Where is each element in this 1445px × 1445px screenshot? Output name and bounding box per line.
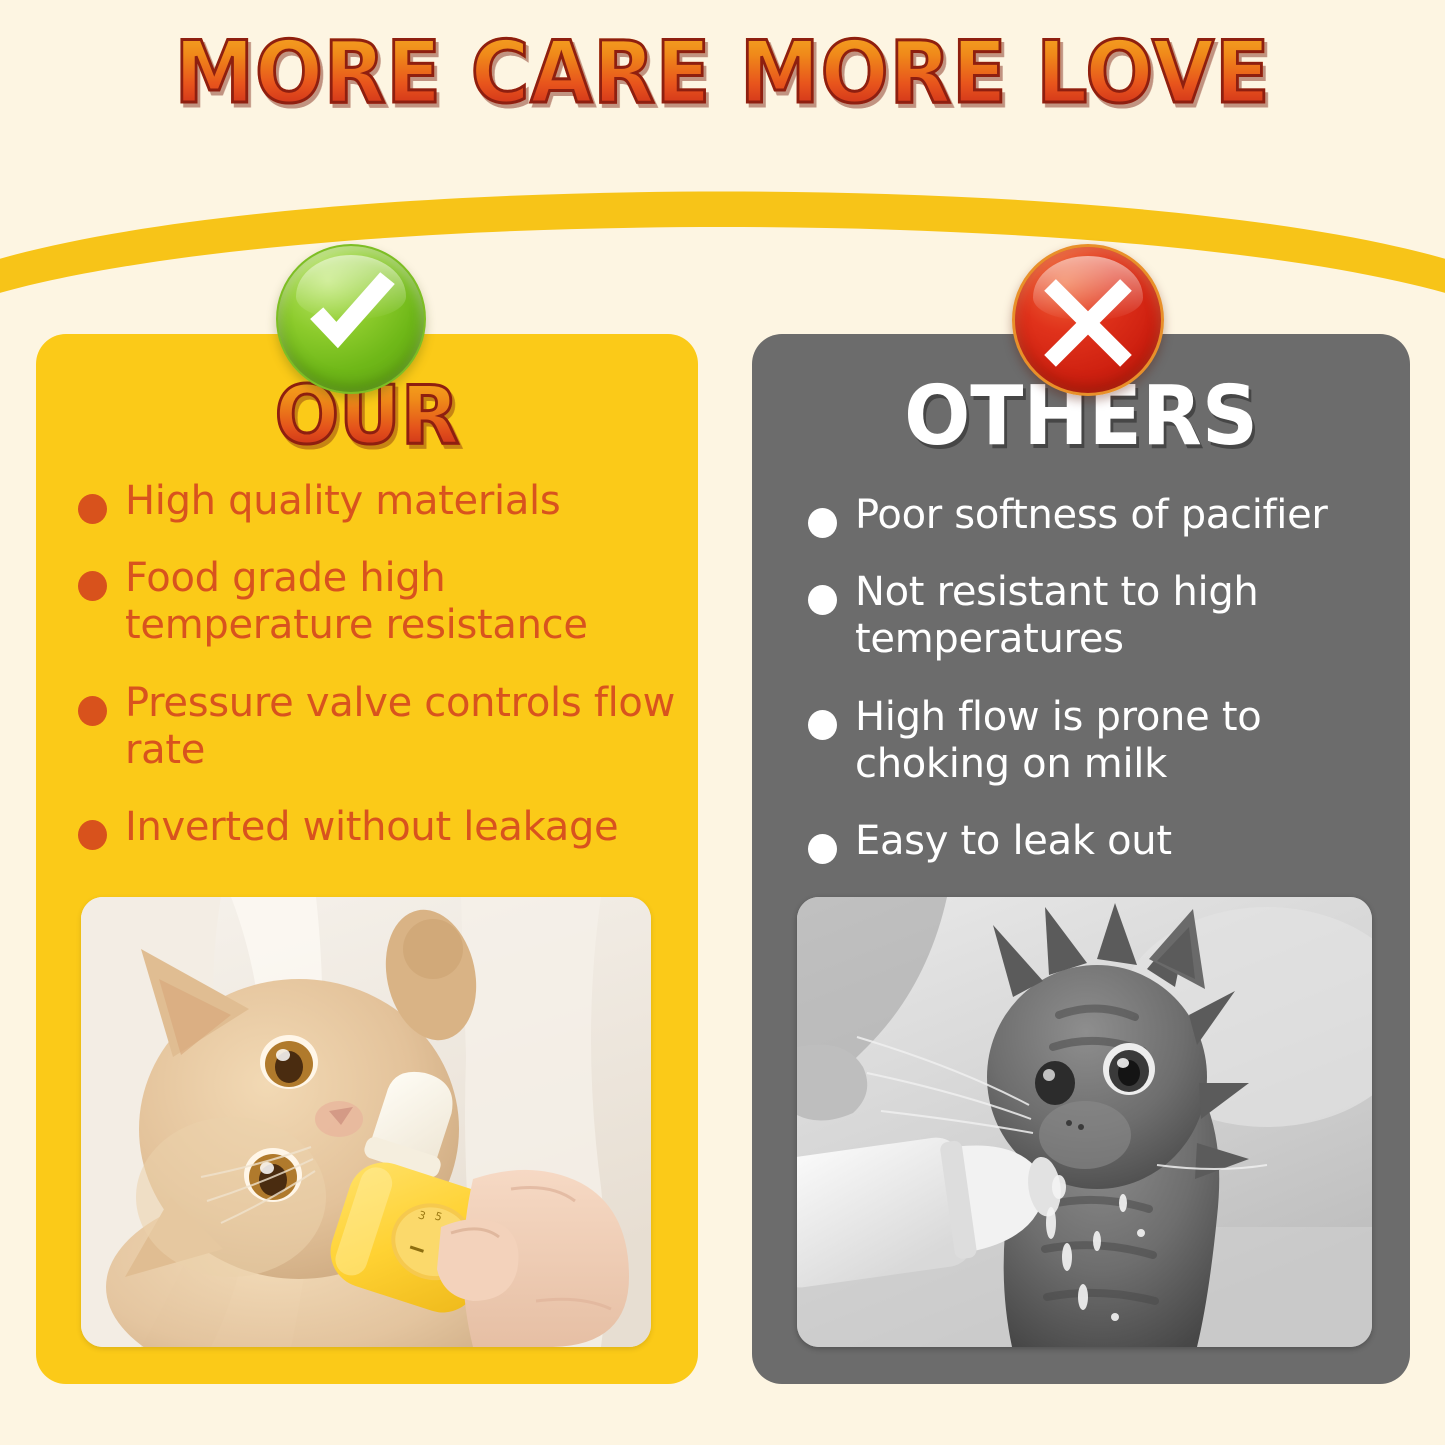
list-item: Pressure valve controls flow rate (78, 680, 678, 774)
bullet-list-others: Poor softness of pacifier Not resistant … (808, 492, 1400, 895)
bullet-dot-icon (78, 820, 107, 850)
bullet-dot-icon (808, 710, 837, 740)
infographic-canvas: MORE CARE MORE LOVE OUR High quality mat… (0, 0, 1445, 1445)
list-item: Poor softness of pacifier (808, 492, 1400, 539)
bullet-dot-icon (78, 571, 107, 601)
photo-others (797, 897, 1372, 1347)
cross-badge-icon (1012, 244, 1164, 396)
list-item-label: Pressure valve controls flow rate (125, 680, 678, 774)
list-item: Inverted without leakage (78, 804, 678, 851)
list-item: Easy to leak out (808, 818, 1400, 865)
check-mark-icon (278, 246, 424, 392)
list-item-label: Inverted without leakage (125, 804, 618, 851)
list-item-label: High quality materials (125, 478, 560, 525)
page-title: MORE CARE MORE LOVE (51, 30, 1395, 116)
list-item-label: Food grade high temperature resistance (125, 555, 678, 649)
bullet-list-our: High quality materials Food grade high t… (78, 478, 678, 881)
bullet-dot-icon (78, 494, 107, 524)
list-item-label: Easy to leak out (855, 818, 1172, 865)
bullet-dot-icon (808, 508, 837, 538)
decorative-arc (0, 150, 1445, 340)
bullet-dot-icon (808, 585, 837, 615)
list-item: High quality materials (78, 478, 678, 525)
list-item: High flow is prone to choking on milk (808, 694, 1400, 788)
list-item-label: Not resistant to high temperatures (855, 569, 1400, 663)
list-item: Not resistant to high temperatures (808, 569, 1400, 663)
photo-our: 3 5 2 (81, 897, 651, 1347)
bullet-dot-icon (78, 696, 107, 726)
list-item-label: Poor softness of pacifier (855, 492, 1328, 539)
x-mark-icon (1015, 247, 1161, 393)
list-item: Food grade high temperature resistance (78, 555, 678, 649)
list-item-label: High flow is prone to choking on milk (855, 694, 1400, 788)
photo-others-illustration (797, 897, 1372, 1347)
photo-our-illustration: 3 5 2 (81, 897, 651, 1347)
bullet-dot-icon (808, 834, 837, 864)
check-badge-icon (276, 244, 426, 394)
